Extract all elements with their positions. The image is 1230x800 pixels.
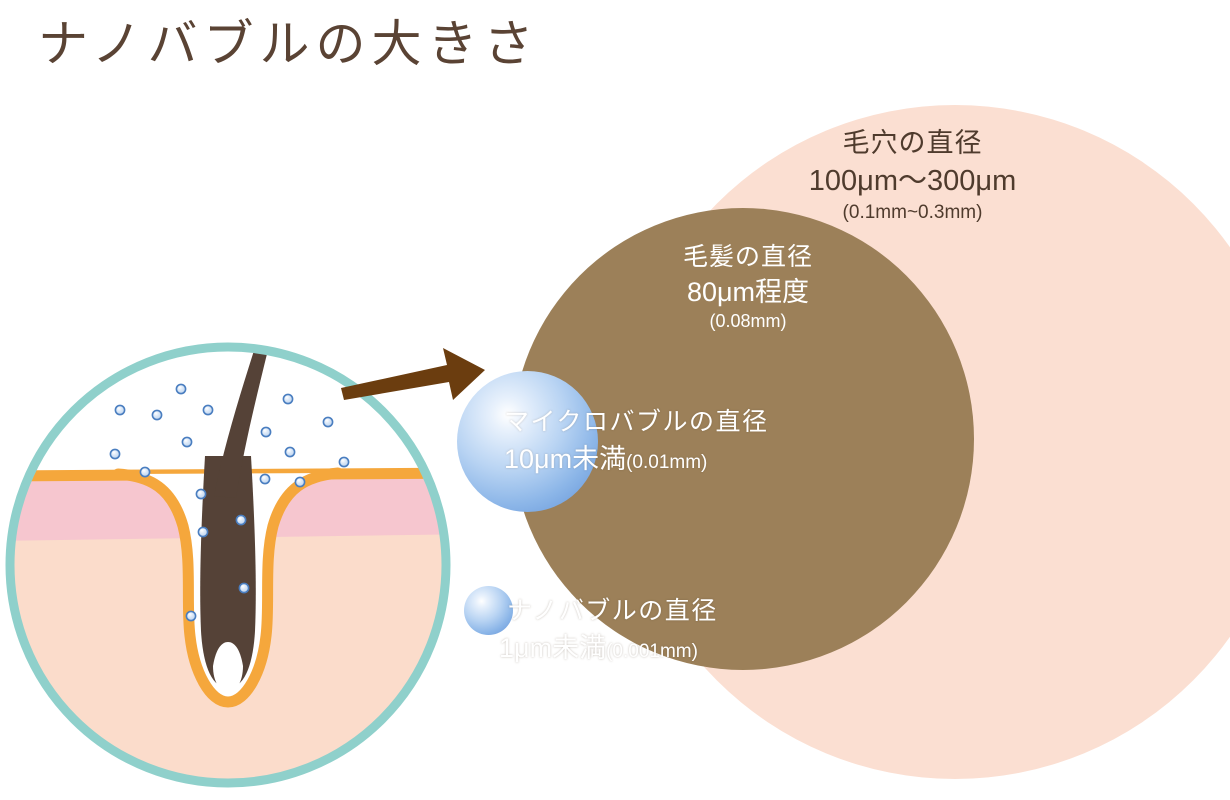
pore-label-value: 100μm〜300μm	[790, 163, 1035, 200]
nanobubble-sphere	[464, 586, 513, 635]
hair-label-value: 80μm程度	[648, 275, 848, 310]
pore-label: 毛穴の直径 100μm〜300μm (0.1mm~0.3mm)	[790, 126, 1035, 225]
microbubble-label-value: 10μm未満	[504, 444, 626, 474]
zoom-arrow	[335, 330, 525, 420]
pore-label-name: 毛穴の直径	[790, 126, 1035, 161]
microbubble-label: マイクロバブルの直径 10μm未満(0.01mm)	[504, 406, 769, 477]
pore-label-value-mm: (0.1mm~0.3mm)	[790, 201, 1035, 225]
nanobubble-label-value: 1μm未満	[499, 633, 606, 663]
nanobubble-label: ナノバブルの直径 1μm未満(0.001mm)	[507, 595, 718, 666]
microbubble-label-name: マイクロバブルの直径	[504, 406, 769, 438]
nanobubble-label-name: ナノバブルの直径	[507, 595, 718, 627]
infographic-canvas: ナノバブルの大きさ 毛穴の直径 100μm〜300μm (0.1mm~0.3mm…	[0, 0, 1230, 800]
nanobubble-label-value-mm: (0.001mm)	[606, 641, 698, 662]
hair-label: 毛髪の直径 80μm程度 (0.08mm)	[648, 241, 848, 333]
hair-label-value-mm: (0.08mm)	[648, 310, 848, 333]
hair-label-name: 毛髪の直径	[648, 241, 848, 273]
arrow-shape	[341, 348, 485, 400]
page-title: ナノバブルの大きさ	[38, 14, 540, 74]
microbubble-label-value-mm: (0.01mm)	[626, 452, 707, 473]
